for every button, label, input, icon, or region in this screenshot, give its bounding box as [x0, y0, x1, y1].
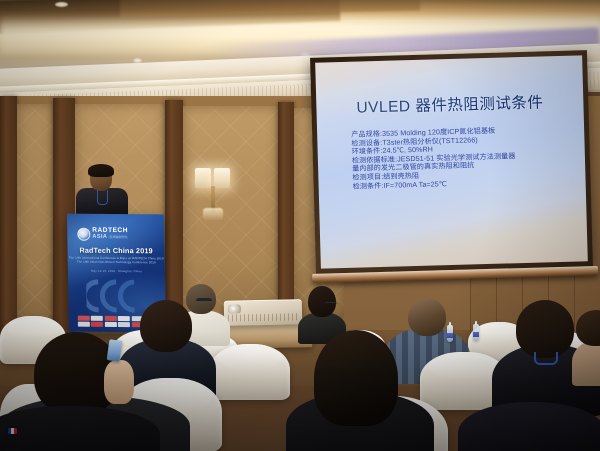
- slide-title: UVLED 器件热阻测试条件: [334, 90, 566, 118]
- attendee-shoulders: [458, 402, 600, 451]
- podium-logo-secondary-text: ASIA: [92, 234, 107, 240]
- attendee-head: [576, 310, 600, 346]
- podium-logo-secondary-small: 亚洲辐射固化: [109, 235, 128, 239]
- water-bottle: [447, 325, 453, 342]
- flag-patch-icon: [8, 428, 17, 434]
- conference-room-photo: UVLED 器件热阻测试条件 产品规格:3535 Molding 120度ICP…: [0, 0, 600, 451]
- podium-logo: RADTECH ASIA 亚洲辐射固化: [77, 228, 155, 242]
- projection-screen-surface: UVLED 器件热阻测试条件 产品规格:3535 Molding 120度ICP…: [315, 55, 588, 268]
- attendee-head: [314, 330, 398, 426]
- sconce-shade-left: [195, 168, 211, 188]
- attendee-flag-patch: [0, 392, 140, 451]
- attendee-long-hair: [300, 330, 420, 451]
- attendee-right-partial: [572, 310, 600, 380]
- sponsor-logo: [104, 315, 116, 320]
- slide-body: 产品规格:3535 Molding 120度ICP氮化铝基板 检测设备:T3st…: [335, 125, 568, 192]
- conference-lanyard: [534, 352, 558, 365]
- podium-logo-secondary: ASIA 亚洲辐射固化: [92, 235, 128, 241]
- wall-diamond-panel: [17, 104, 53, 342]
- wall-frame-stile: [278, 102, 294, 324]
- sponsor-logo: [91, 315, 103, 320]
- projection-screen: UVLED 器件热阻测试条件 产品规格:3535 Molding 120度ICP…: [310, 50, 593, 274]
- sconce-shade-right: [214, 168, 230, 188]
- presenter-hair: [88, 164, 114, 177]
- radtech-globe-icon: [77, 228, 90, 241]
- projector: [224, 299, 303, 326]
- water-bottle: [473, 324, 479, 341]
- ceiling-downlight: [55, 2, 68, 7]
- projector-lens-icon: [228, 304, 241, 313]
- attendee-head: [516, 300, 574, 358]
- sponsor-logo: [105, 322, 117, 327]
- attendee-shoulders: [572, 340, 600, 386]
- sconce-base: [203, 208, 223, 220]
- podium-event-date: May 14-16, 2019 · Shanghai, China: [68, 269, 165, 274]
- sponsor-logo: [77, 315, 89, 320]
- attendee-shoulders: [0, 406, 160, 451]
- chair: [210, 344, 290, 400]
- sponsor-logo: [78, 322, 90, 327]
- sponsor-logo: [91, 322, 103, 327]
- wall-sconce: [193, 162, 235, 224]
- glasses-icon: [324, 302, 338, 308]
- podium-event-title: RadTech China 2019: [68, 246, 165, 256]
- wall-frame-stile: [0, 96, 17, 356]
- attendee-bottom-right: [458, 392, 588, 451]
- podium-logo-text: RADTECH ASIA 亚洲辐射固化: [92, 228, 128, 240]
- presentation-slide: UVLED 器件热阻测试条件 产品规格:3535 Molding 120度ICP…: [315, 55, 588, 268]
- podium-event-subtitle: The 19th International Conference & Expo…: [68, 256, 165, 265]
- podium-event-subtitle-line2: The 19th Asian Non-Woven Technology Conf…: [68, 260, 165, 265]
- presenter-lanyard: [97, 190, 108, 205]
